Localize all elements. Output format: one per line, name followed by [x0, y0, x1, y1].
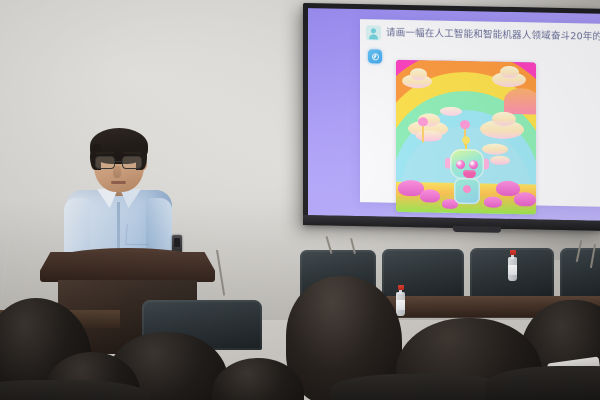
glasses-lens-left — [95, 156, 115, 169]
user-prompt-text: 请画一幅在人工智能和智能机器人领域奋斗20年的创新创业者的 — [386, 26, 600, 46]
display-mount-foot — [453, 226, 501, 233]
generated-image[interactable] — [396, 60, 536, 215]
robot-antenna — [465, 141, 467, 149]
cloud-2-top — [500, 66, 519, 78]
presenter-nose — [113, 166, 121, 178]
presenter-mouth — [111, 181, 126, 184]
presenter-shirt-pocket — [125, 224, 149, 245]
glasses-bridge — [115, 161, 122, 162]
robot-mouth — [463, 170, 476, 178]
tree-2 — [420, 189, 440, 202]
illustration-hill — [504, 88, 536, 115]
cloud-1-top — [410, 68, 427, 80]
chat-message-user: 请画一幅在人工智能和智能机器人领域奋斗20年的创新创业者的 — [366, 25, 600, 50]
user-avatar-icon — [366, 25, 381, 40]
audience-shoulder — [330, 374, 510, 400]
bottle-cap — [510, 250, 516, 255]
flag-post-1 — [422, 124, 424, 142]
balloon-2 — [490, 156, 510, 165]
robot-character — [446, 145, 488, 206]
robot-head — [450, 149, 484, 180]
glasses-lens-right — [122, 156, 142, 169]
robot-eye-left — [456, 160, 465, 169]
tree-4 — [514, 192, 536, 206]
presentation-photo-scene: 请画一幅在人工智能和智能机器人领域奋斗20年的创新创业者的 — [0, 0, 600, 400]
robot-body — [454, 178, 480, 204]
cloud-5-top — [492, 112, 516, 126]
wall-display[interactable]: 请画一幅在人工智能和智能机器人领域奋斗20年的创新创业者的 — [303, 3, 600, 231]
ai-bot-icon — [368, 49, 382, 63]
bottle-cap — [398, 285, 404, 290]
balloon-1 — [416, 130, 442, 141]
display-panel: 请画一幅在人工智能和智能机器人领域奋斗20年的创新创业者的 — [308, 8, 600, 221]
cloud-3 — [440, 107, 462, 116]
bottle-label — [396, 300, 405, 310]
bottle-label — [508, 265, 517, 275]
slide-content-card: 请画一幅在人工智能和智能机器人领域奋斗20年的创新创业者的 — [360, 19, 600, 207]
office-chair — [382, 249, 464, 300]
robot-eye-right — [469, 160, 478, 169]
lectern-top — [40, 252, 215, 282]
